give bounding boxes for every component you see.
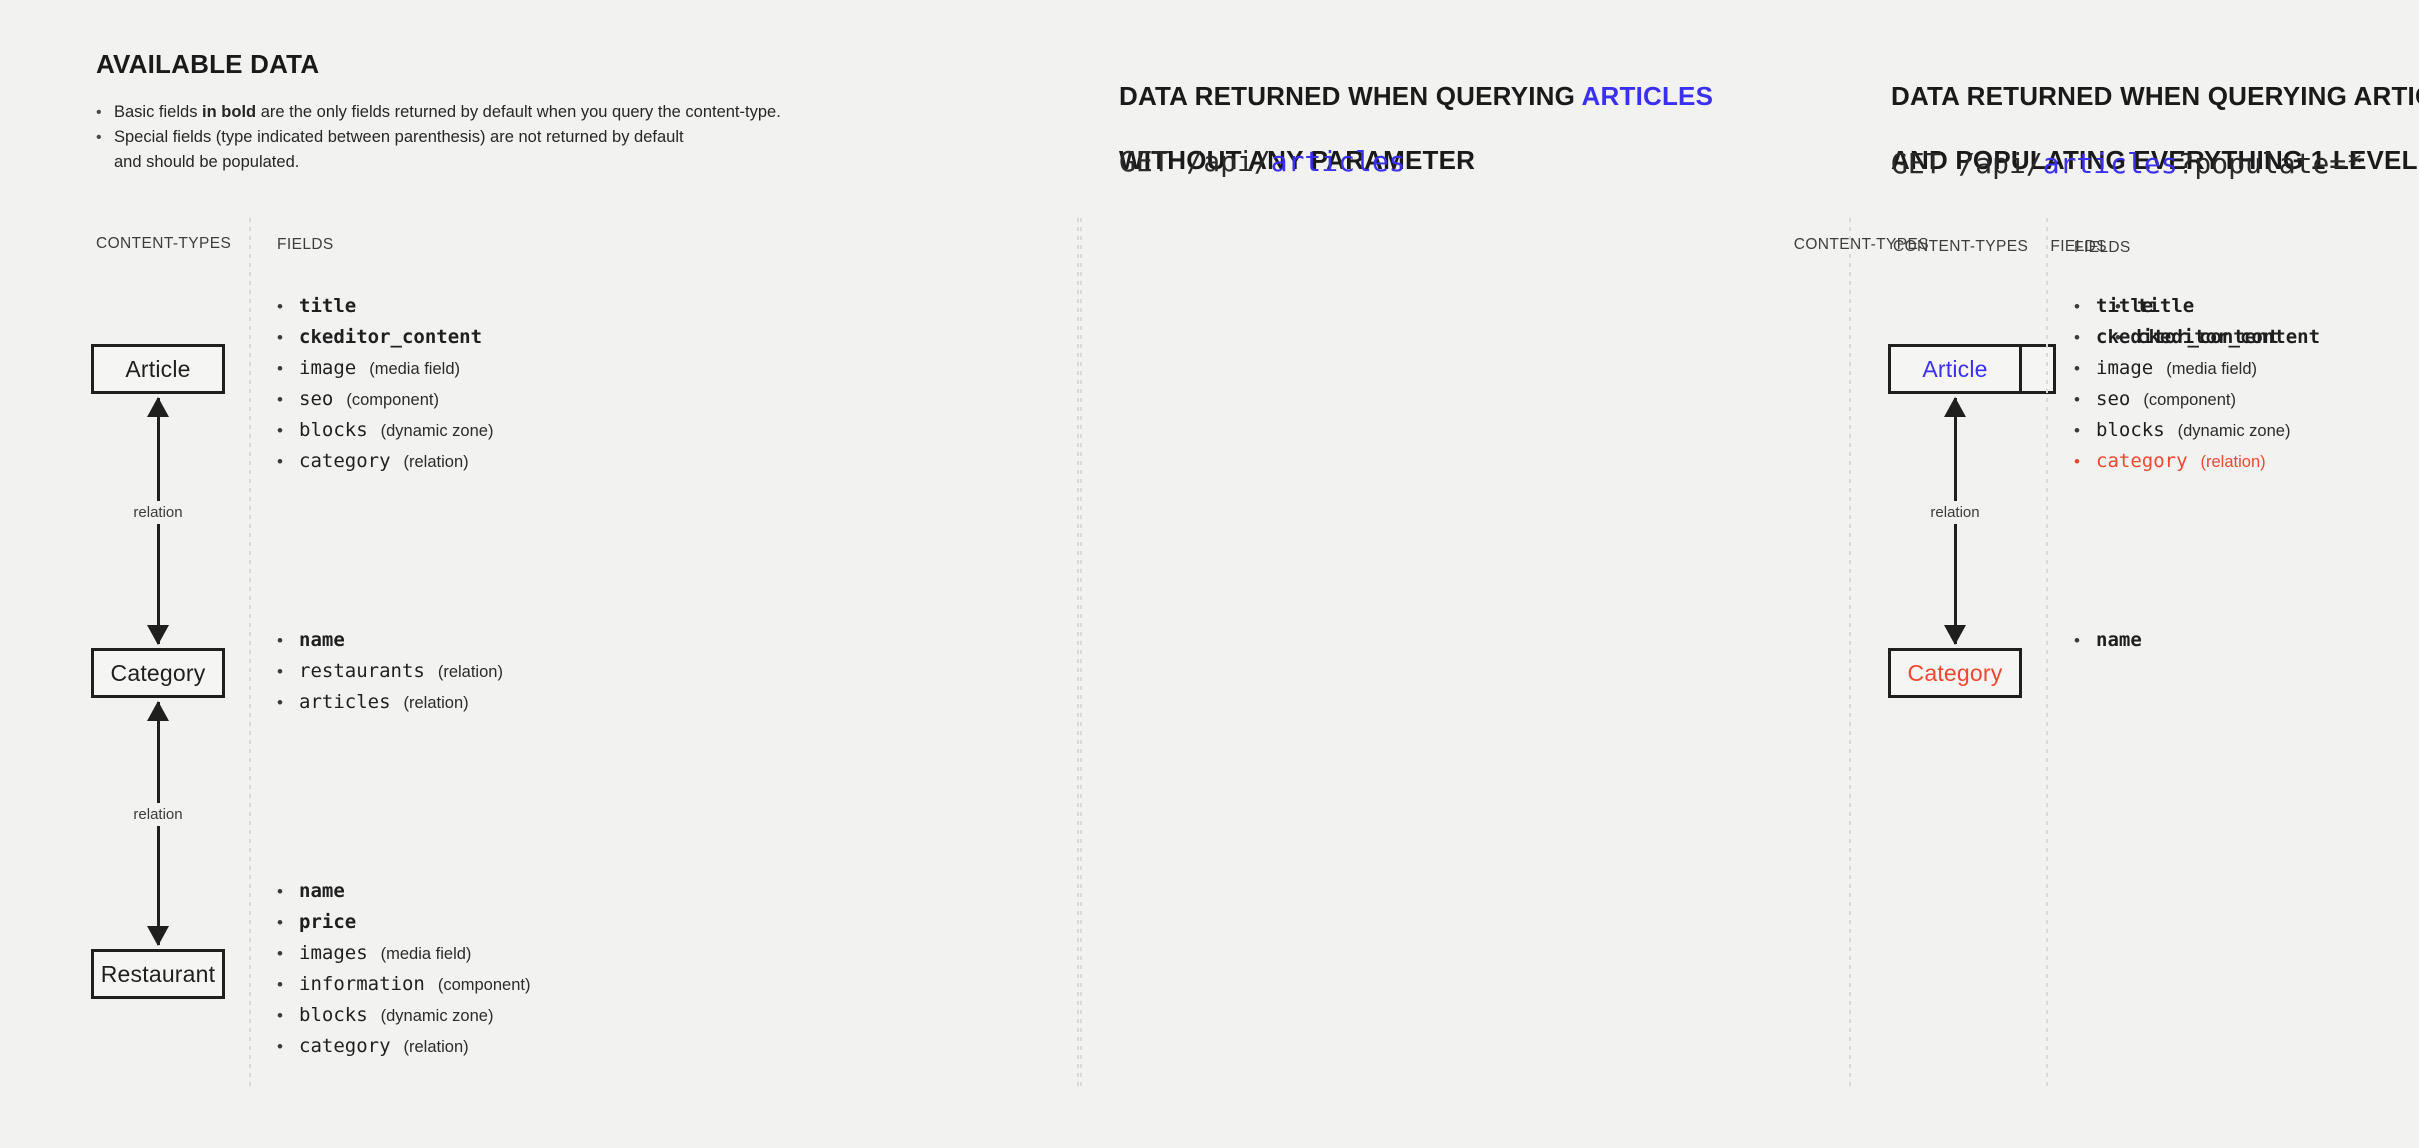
field-row: •category(relation) <box>277 1031 530 1062</box>
field-name: name <box>299 880 345 902</box>
arrow-up-icon <box>1944 397 1966 417</box>
field-name: information <box>299 973 425 995</box>
field-name: title <box>299 295 356 317</box>
entity-label: Category <box>111 660 206 687</box>
field-name: category <box>2096 450 2188 472</box>
endpoint-url: GET /api/articles?populate=* <box>1891 147 2363 180</box>
field-name: category <box>299 1035 391 1057</box>
entity-label: Category <box>1908 660 2003 687</box>
endpoint-resource: articles <box>1271 145 1406 178</box>
field-name: image <box>2096 357 2153 379</box>
bullet-icon: • <box>2074 291 2096 322</box>
field-name: ckeditor_content <box>2096 326 2279 348</box>
bullet-icon: • <box>277 415 299 446</box>
entity-label: Article <box>125 356 190 383</box>
field-group-article: •title •ckeditor_content •image(media fi… <box>277 291 493 477</box>
list-item: • Basic fields in bold are the only fiel… <box>96 100 856 125</box>
intro-bullet-1: Basic fields in bold are the only fields… <box>114 100 856 125</box>
field-row: •ckeditor_content <box>277 322 493 353</box>
panel-query-no-parameter: DATA RETURNED WHEN QUERYING ARTICLES WIT… <box>1077 0 1849 1148</box>
bullet-icon: • <box>96 100 114 125</box>
arrow-down-icon <box>1944 625 1966 645</box>
field-name: price <box>299 911 356 933</box>
field-row: •seo(component) <box>277 384 493 415</box>
relation-connector-article-category: relation <box>91 398 225 644</box>
field-name: blocks <box>299 419 368 441</box>
page-title: AVAILABLE DATA <box>96 48 319 80</box>
field-type: (dynamic zone) <box>2178 422 2291 441</box>
bullet-icon: • <box>277 1031 299 1062</box>
heading-line-1: DATA RETURNED WHEN QUERYING ARTICLES <box>1891 81 2419 111</box>
entity-box-category[interactable]: Category <box>91 648 225 698</box>
field-row: •image(media field) <box>277 353 493 384</box>
field-name: title <box>2096 295 2153 317</box>
bullet-icon: • <box>2074 446 2096 477</box>
field-name: blocks <box>2096 419 2165 441</box>
field-name: restaurants <box>299 660 425 682</box>
endpoint-prefix: GET /api/ <box>1119 145 1271 178</box>
endpoint-url: GET /api/articles <box>1119 145 1406 178</box>
field-type: (media field) <box>2166 360 2257 379</box>
field-type: (component) <box>438 976 531 995</box>
panel-available-data: AVAILABLE DATA • Basic fields in bold ar… <box>0 0 1077 1148</box>
heading-accent-articles: ARTICLES <box>1582 81 1714 111</box>
endpoint-prefix: GET /api/ <box>1891 147 2043 180</box>
relation-label: relation <box>127 803 188 826</box>
inner-divider <box>249 218 251 1090</box>
field-name: image <box>299 357 356 379</box>
arrow-up-icon <box>147 397 169 417</box>
field-name: name <box>2096 629 2142 651</box>
field-row: •images(media field) <box>277 938 530 969</box>
intro-bullet-2: Special fields (type indicated between p… <box>114 125 856 175</box>
field-type: (component) <box>2143 391 2236 410</box>
arrow-up-icon <box>147 701 169 721</box>
bullet-icon: • <box>277 446 299 477</box>
heading-line-1-plain: DATA RETURNED WHEN QUERYING <box>1119 81 1582 111</box>
field-name: blocks <box>299 1004 368 1026</box>
field-type: (relation) <box>438 663 503 682</box>
field-type: (dynamic zone) <box>381 1007 494 1026</box>
field-group-article: •title •ckeditor_content •image(media fi… <box>2074 291 2290 477</box>
field-name: seo <box>2096 388 2130 410</box>
field-name: category <box>299 450 391 472</box>
field-row: •name <box>2074 625 2142 656</box>
field-row: •ckeditor_content <box>2074 322 2290 353</box>
relation-connector-article-category: relation <box>1888 398 2022 644</box>
field-name: name <box>299 629 345 651</box>
column-label-fields: FIELDS <box>277 236 334 254</box>
endpoint-resource: articles <box>2043 147 2178 180</box>
bullet-icon: • <box>2074 625 2096 656</box>
field-row: •restaurants(relation) <box>277 656 503 687</box>
bullet-icon: • <box>2074 322 2096 353</box>
column-label-content-types: CONTENT-TYPES <box>96 235 231 253</box>
intro-bullet-list: • Basic fields in bold are the only fiel… <box>96 100 856 175</box>
field-group-category: •name •restaurants(relation) •articles(r… <box>277 625 503 718</box>
field-group-category: •name <box>2074 625 2142 656</box>
field-row: •category(relation) <box>2074 446 2290 477</box>
field-type: (relation) <box>2201 453 2266 472</box>
relation-label: relation <box>127 501 188 524</box>
field-type: (relation) <box>404 453 469 472</box>
column-label-fields: FIELDS <box>2074 239 2131 257</box>
entity-box-category[interactable]: Category <box>1888 648 2022 698</box>
bullet-icon: • <box>277 322 299 353</box>
inner-divider <box>2046 218 2048 1090</box>
panel-query-populate-deep: DATA RETURNED WHEN QUERYING ARTICLES AND… <box>1849 0 2419 1148</box>
field-row: •name <box>277 876 530 907</box>
list-item: • Special fields (type indicated between… <box>96 125 856 175</box>
endpoint-suffix: ?populate=* <box>2178 147 2363 180</box>
entity-box-article[interactable]: Article <box>1888 344 2022 394</box>
field-row: •blocks(dynamic zone) <box>277 415 493 446</box>
bullet-icon: • <box>277 938 299 969</box>
field-name: ckeditor_content <box>299 326 482 348</box>
arrow-down-icon <box>147 625 169 645</box>
bullet-icon: • <box>277 687 299 718</box>
bullet-icon: • <box>277 1000 299 1031</box>
bullet-icon: • <box>277 907 299 938</box>
field-row: •title <box>277 291 493 322</box>
field-row: •price <box>277 907 530 938</box>
entity-label: Article <box>1922 356 1987 383</box>
field-name: images <box>299 942 368 964</box>
field-type: (component) <box>346 391 439 410</box>
bullet-icon: • <box>2074 384 2096 415</box>
field-row: •name <box>277 625 503 656</box>
bullet-icon: • <box>277 291 299 322</box>
field-type: (relation) <box>404 1038 469 1057</box>
panel-2-inner-divider <box>1080 218 1082 1090</box>
field-row: •image(media field) <box>2074 353 2290 384</box>
field-type: (relation) <box>404 694 469 713</box>
field-row: •title <box>2074 291 2290 322</box>
field-type: (dynamic zone) <box>381 422 494 441</box>
relation-connector-category-restaurant: relation <box>91 702 225 945</box>
field-group-restaurant: •name •price •images(media field) •infor… <box>277 876 530 1062</box>
entity-label: Restaurant <box>101 961 216 988</box>
bullet-icon: • <box>277 625 299 656</box>
bullet-icon: • <box>277 969 299 1000</box>
bullet-icon: • <box>277 876 299 907</box>
field-row: •information(component) <box>277 969 530 1000</box>
field-row: •seo(component) <box>2074 384 2290 415</box>
column-label-content-types: CONTENT-TYPES <box>1893 238 2028 256</box>
field-name: articles <box>299 691 391 713</box>
bullet-icon: • <box>2074 415 2096 446</box>
bullet-icon: • <box>277 353 299 384</box>
bullet-icon: • <box>2074 353 2096 384</box>
entity-box-restaurant[interactable]: Restaurant <box>91 949 225 999</box>
entity-box-article[interactable]: Article <box>91 344 225 394</box>
field-type: (media field) <box>381 945 472 964</box>
field-type: (media field) <box>369 360 460 379</box>
field-row: •articles(relation) <box>277 687 503 718</box>
relation-label: relation <box>1924 501 1985 524</box>
bullet-icon: • <box>277 384 299 415</box>
bullet-icon: • <box>96 125 114 150</box>
arrow-down-icon <box>147 926 169 946</box>
field-row: •blocks(dynamic zone) <box>2074 415 2290 446</box>
field-row: •category(relation) <box>277 446 493 477</box>
field-name: seo <box>299 388 333 410</box>
field-row: •blocks(dynamic zone) <box>277 1000 530 1031</box>
bullet-icon: • <box>277 656 299 687</box>
